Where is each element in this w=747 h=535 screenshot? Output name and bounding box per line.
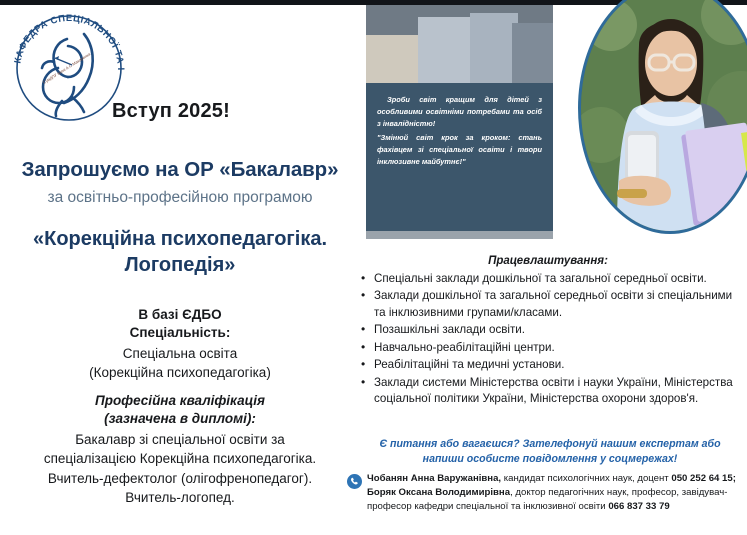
qualification-line-3: Вчитель-дефектолог (олігофренопедагог). [0,469,360,488]
quote-paragraph-1: Зроби світ кращим для дітей з особливими… [377,94,542,130]
student-portrait-photo [578,0,747,162]
program-prefix-text: за освітньо-професійною програмою [0,188,360,208]
qualification-heading-line1: Професійна кваліфікація [0,392,360,410]
list-item: Заклади системи Міністерства освіти і на… [374,375,738,408]
phone-icon [347,474,362,489]
call-to-action-text: Є питання або вагаєшся? Зателефонуй наши… [358,437,742,467]
edbo-label: В базі ЄДБО [0,307,360,322]
program-name-title: «Корекційна психопедагогіка. Логопедія» [0,226,360,278]
list-item: Заклади дошкільної та загальної середньо… [374,288,738,321]
contact-1-phone[interactable]: 050 252 64 15; [671,473,736,484]
contacts-block: Чобанян Анна Варужанівна, кандидат психо… [345,472,745,514]
qualification-body: Бакалавр зі спеціальної освіти за спеціа… [0,430,360,508]
svg-text:СумДПУ імені А.С.Макаренка: СумДПУ імені А.С.Макаренка [42,51,92,85]
speciality-label: Спеціальність: [0,325,360,340]
svg-text:КАФЕДРА СПЕЦІАЛЬНОЇ ТА ІНКЛЮЗИ: КАФЕДРА СПЕЦІАЛЬНОЇ ТА ІНКЛЮЗИВНОЇ ОСВІТ… [10,8,127,71]
invite-headline: Запрошуємо на ОР «Бакалавр» [0,158,360,182]
poster-root: КАФЕДРА СПЕЦІАЛЬНОЇ ТА ІНКЛЮЗИВНОЇ ОСВІТ… [0,0,747,535]
portrait-circle-frame [578,0,747,234]
contact-2-phone[interactable]: 066 837 33 79 [608,501,669,512]
qualification-heading-line2: (зазначена в дипломі): [0,410,360,428]
employment-section: Працевлаштування: Спеціальні заклади дош… [352,255,744,409]
qualification-line-4: Вчитель-логопед. [0,488,360,507]
department-emblem-logo: КАФЕДРА СПЕЦІАЛЬНОЇ ТА ІНКЛЮЗИВНОЇ ОСВІТ… [10,8,128,128]
qualification-line-2: спеціалізацією Корекційна психопедагогік… [0,449,360,468]
speciality-value-sub: (Корекційна психопедагогіка) [0,363,360,382]
admission-year-label: Вступ 2025! [112,100,230,123]
contact-1-name: Чобанян Анна Варужанівна, [367,473,501,484]
qualification-heading: Професійна кваліфікація (зазначена в дип… [0,392,360,428]
contact-2-name: Боряк Оксана Володимирівна [367,487,510,498]
speciality-value-main: Спеціальна освіта [0,344,360,363]
list-item: Навчально-реабілітаційні центри. [374,340,738,356]
contact-1-title: кандидат психологічних наук, доцент [501,473,671,484]
motivational-quote-box: Зроби світ кращим для дітей з особливими… [366,83,553,231]
qualification-line-1: Бакалавр зі спеціальної освіти за [0,430,360,449]
contacts-text: Чобанян Анна Варужанівна, кандидат психо… [367,472,745,514]
left-content-column: КАФЕДРА СПЕЦІАЛЬНОЇ ТА ІНКЛЮЗИВНОЇ ОСВІТ… [0,0,366,535]
list-item: Позашкільні заклади освіти. [374,322,738,338]
employment-list: Спеціальні заклади дошкільної та загальн… [352,271,744,408]
employment-heading: Працевлаштування: [352,255,744,267]
quote-text-1: Зроби світ кращим для дітей з особливими… [377,95,542,128]
quote-paragraph-2: "Змінюй світ крок за кроком: стань фахів… [377,132,542,168]
speciality-value: Спеціальна освіта (Корекційна психопедаг… [0,344,360,382]
list-item: Спеціальні заклади дошкільної та загальн… [374,271,738,287]
list-item: Реабілітаційні та медичні установи. [374,357,738,373]
